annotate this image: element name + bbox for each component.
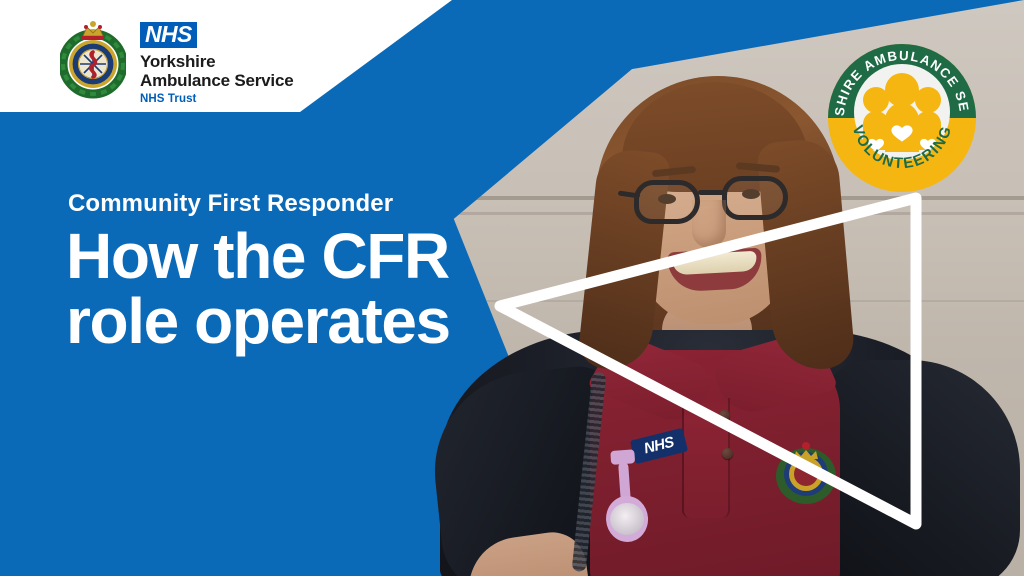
nhs-logo-text: NHS bbox=[140, 22, 197, 48]
wall-rail-line bbox=[430, 212, 1024, 215]
yorkshire-ambulance-crest-icon bbox=[60, 14, 126, 100]
trust-subtitle: NHS Trust bbox=[140, 93, 293, 105]
trust-name-line1: Yorkshire bbox=[140, 52, 293, 71]
title-line-1: How the CFR bbox=[66, 224, 450, 289]
volunteering-badge: YORKSHIRE AMBULANCE SERVICE VOLUNTEERING bbox=[826, 42, 978, 194]
wall-rail-line bbox=[430, 196, 1024, 200]
nhs-trust-wordmark: NHS Yorkshire Ambulance Service NHS Trus… bbox=[140, 14, 293, 105]
trust-name-line2: Ambulance Service bbox=[140, 71, 293, 90]
eyebrow-label: Community First Responder bbox=[68, 190, 393, 218]
slide-canvas: NHS bbox=[0, 0, 1024, 576]
page-title: How the CFR role operates bbox=[66, 224, 450, 355]
title-line-2: role operates bbox=[66, 289, 450, 354]
wall-shadow-line bbox=[430, 300, 1024, 302]
trust-name: Yorkshire Ambulance Service bbox=[140, 52, 293, 90]
nhs-yas-logo[interactable]: NHS Yorkshire Ambulance Service NHS Trus… bbox=[60, 14, 293, 105]
